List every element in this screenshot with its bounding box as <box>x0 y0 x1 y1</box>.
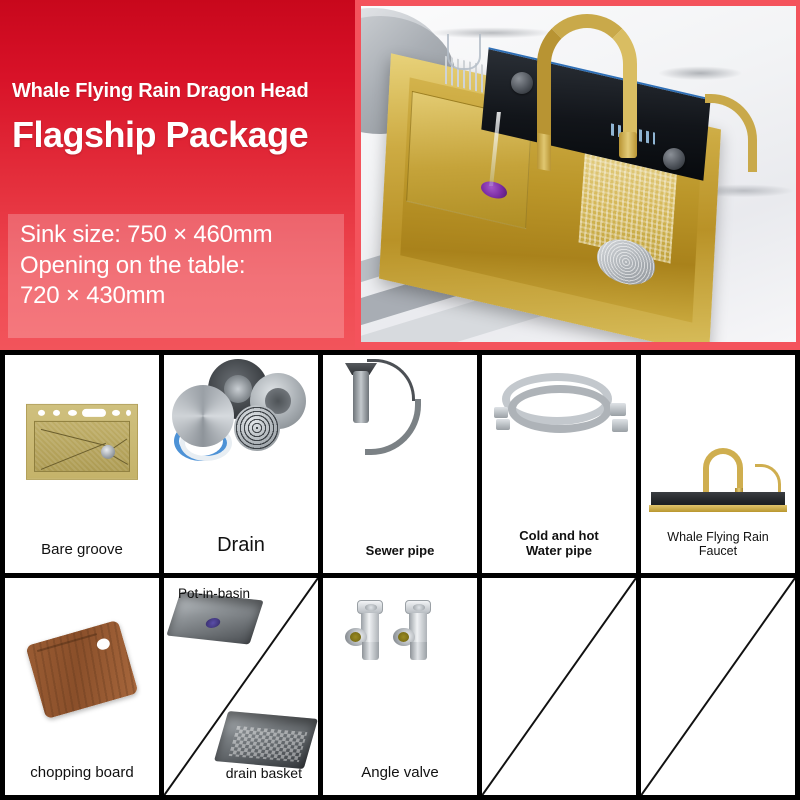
accessory-label: Whale Flying Rain Faucet <box>641 530 795 573</box>
accessory-label: Drain <box>164 534 318 573</box>
hose-connector-icon <box>612 419 628 432</box>
drain-plate-icon <box>172 385 234 447</box>
product-photo <box>361 6 796 342</box>
accessory-cell-angle-valve[interactable]: Angle valve <box>323 578 477 796</box>
accessory-label-line1: Cold and hot <box>482 529 636 544</box>
accessory-cell-bare-groove[interactable]: Bare groove <box>5 355 159 573</box>
size-line-opening-value: 720 × 430mm <box>8 281 344 312</box>
glass-icon <box>447 34 481 70</box>
faucet-head-icon <box>619 132 637 158</box>
accessory-label-pot: Pot-in-basin <box>178 586 250 601</box>
faucet-art <box>641 355 795 530</box>
hose-connector-icon <box>610 403 626 416</box>
accessory-cell-empty-2 <box>641 578 795 796</box>
accessory-cell-sewer-pipe[interactable]: Sewer pipe <box>323 355 477 573</box>
faucet-arc-icon <box>703 448 743 492</box>
accessory-label-line2: Water pipe <box>482 544 636 559</box>
panel-knob-left-icon <box>511 72 533 94</box>
hose-connector-icon <box>494 407 508 418</box>
accessory-cell-faucet[interactable]: Whale Flying Rain Faucet <box>641 355 795 573</box>
accessory-label: Angle valve <box>323 764 477 795</box>
side-sprayer-icon <box>705 94 757 172</box>
gooseneck-faucet-icon <box>537 14 637 148</box>
size-line-sink: Sink size: 750 × 460mm <box>8 220 344 251</box>
accessory-label-basket: drain basket <box>226 765 302 781</box>
product-photo-frame <box>355 0 800 348</box>
accessory-label-line2: Faucet <box>641 544 795 558</box>
size-line-opening-label: Opening on the table: <box>8 251 344 282</box>
faucet-gold-plate-icon <box>649 505 787 512</box>
chopping-board-art <box>5 578 159 764</box>
size-spec-box: Sink size: 750 × 460mm Opening on the ta… <box>8 214 344 338</box>
accessory-cell-empty-1 <box>482 578 636 796</box>
accessory-label: Bare groove <box>5 541 159 572</box>
accessory-cell-water-pipe[interactable]: Cold and hot Water pipe <box>482 355 636 573</box>
accessory-label: chopping board <box>5 764 159 795</box>
faucet-side-sprayer-icon <box>755 464 781 492</box>
angle-valve-icon <box>401 600 435 662</box>
empty-slot-icon <box>641 578 795 796</box>
bare-groove-art <box>5 355 159 541</box>
empty-slot-icon <box>482 578 636 796</box>
water-hose-secondary-icon <box>508 385 612 433</box>
water-pipe-art <box>482 355 636 529</box>
panel-knob-right-icon <box>663 148 685 170</box>
accessory-label-line1: Whale Flying Rain <box>641 530 795 544</box>
page-title: Flagship Package <box>12 114 357 155</box>
header-section: Whale Flying Rain Dragon Head Flagship P… <box>0 0 800 350</box>
angle-valve-icon <box>353 600 387 662</box>
accessory-label: Sewer pipe <box>323 544 477 573</box>
product-listing-page: Whale Flying Rain Dragon Head Flagship P… <box>0 0 800 800</box>
sewer-pipe-art <box>323 355 477 544</box>
faucet-stem-icon <box>537 133 551 171</box>
accessory-cell-drain[interactable]: Drain <box>164 355 318 573</box>
accessory-cell-chopping-board[interactable]: chopping board <box>5 578 159 796</box>
sink-basin-icon <box>26 404 138 480</box>
angle-valve-art <box>323 578 477 764</box>
accessory-cell-pot-and-basket[interactable]: Pot-in-basin drain basket <box>164 578 318 796</box>
accessory-label: Cold and hot Water pipe <box>482 529 636 573</box>
hose-connector-icon <box>496 419 510 430</box>
cell-divider-diagonal-icon <box>164 578 318 796</box>
drain-strainer-mesh-icon <box>234 405 280 451</box>
sewer-tube-lower-icon <box>365 399 421 455</box>
drain-art <box>164 355 318 534</box>
chopping-board-icon <box>25 619 138 719</box>
product-subtitle: Whale Flying Rain Dragon Head <box>12 80 357 102</box>
accessory-grid: Bare groove Drain Sewer pipe <box>0 350 800 800</box>
